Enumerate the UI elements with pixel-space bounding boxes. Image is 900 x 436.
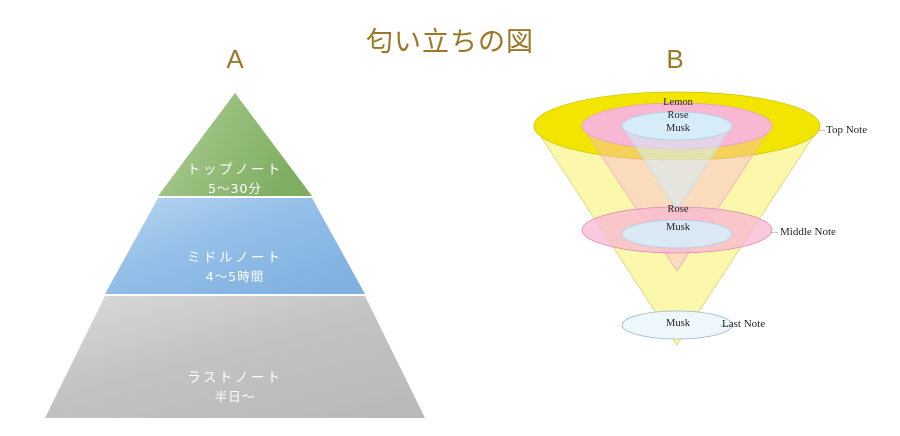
cone-ingredient-lemon-top: Lemon <box>608 97 748 108</box>
cone-ingredient-rose-middle: Rose <box>608 204 748 215</box>
figure-canvas: 匂い立ちの図 A B <box>0 0 900 431</box>
cone-note-label-last: Last Note <box>722 318 765 330</box>
pyramid-svg <box>0 0 470 431</box>
cone-note-label-top: Top Note <box>826 124 867 136</box>
pyramid-diagram: トップノート 5〜30分 ミドルノート 4〜5時間 ラストノート 半日〜 <box>0 0 470 431</box>
pyramid-section-last <box>45 296 425 418</box>
cone-ingredient-musk-middle: Musk <box>608 222 748 233</box>
cone-ingredient-musk-top: Musk <box>608 123 748 134</box>
cone-note-label-middle: Middle Note <box>780 226 836 238</box>
cone-diagram: Lemon Rose Musk Rose Musk Musk Top Note … <box>470 0 900 431</box>
pyramid-section-middle <box>105 198 365 294</box>
pyramid-section-top <box>158 93 312 196</box>
cone-ingredient-rose-top: Rose <box>608 110 748 121</box>
cone-svg <box>470 0 900 431</box>
